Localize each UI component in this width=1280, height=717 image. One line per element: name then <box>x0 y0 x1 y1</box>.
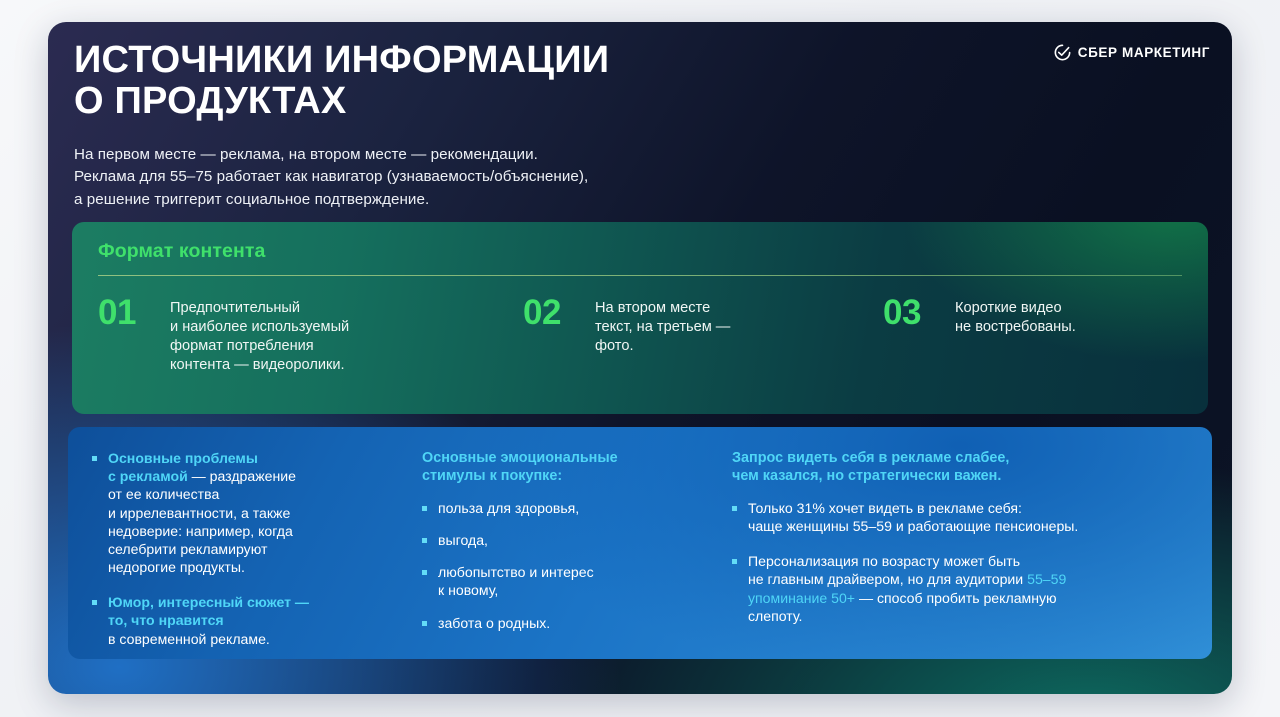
column-heading: Запрос видеть себя в рекламе слабее, чем… <box>732 449 1170 486</box>
list-item: Персонализация по возрасту может быть не… <box>732 552 1170 625</box>
list-item-text: польза для здоровья, <box>438 499 579 517</box>
list-item: Только 31% хочет видеть в рекламе себя: … <box>732 499 1170 535</box>
list-item: любопытство и интерес к новому, <box>422 563 714 599</box>
list-item: Юмор, интересный сюжет — то, что нравитс… <box>92 593 404 648</box>
column-heading: Основные эмоциональные стимулы к покупке… <box>422 449 714 486</box>
slide-subtitle: На первом месте — реклама, на втором мес… <box>74 144 588 211</box>
bullet-square-icon <box>422 570 427 575</box>
brand-label: СБЕР МАРКЕТИНГ <box>1078 45 1210 60</box>
body-text: — раздражение от ее количества и иррелев… <box>108 468 296 575</box>
highlight-text: Юмор, интересный сюжет — то, что нравитс… <box>108 594 309 628</box>
content-format-items: 01 Предпочтительный и наиболее используе… <box>98 296 1182 375</box>
insights-column-emotional-drivers: Основные эмоциональные стимулы к покупке… <box>422 449 732 659</box>
bullet-square-icon <box>92 600 97 605</box>
item-text: Короткие видео не востребованы. <box>955 296 1076 337</box>
body-text-pre: Персонализация по возрасту может быть не… <box>748 553 1027 587</box>
content-format-item: 01 Предпочтительный и наиболее используе… <box>98 296 523 375</box>
list-item-text: любопытство и интерес к новому, <box>438 563 594 599</box>
list-item-text: выгода, <box>438 531 488 549</box>
list-item: забота о родных. <box>422 614 714 632</box>
brand-logo: СБЕР МАРКЕТИНГ <box>1054 44 1210 61</box>
list-item-text: Персонализация по возрасту может быть не… <box>748 552 1066 625</box>
list-item: Основные проблемы с рекламой — раздражен… <box>92 449 404 576</box>
list-item-text: забота о родных. <box>438 614 550 632</box>
insights-column-self-representation: Запрос видеть себя в рекламе слабее, чем… <box>732 449 1188 659</box>
content-format-item: 03 Короткие видео не востребованы. <box>883 296 1182 375</box>
sber-check-circle-icon <box>1054 44 1071 61</box>
list-item-text: Только 31% хочет видеть в рекламе себя: … <box>748 499 1078 535</box>
list-item: выгода, <box>422 531 714 549</box>
slide-header: ИСТОЧНИКИ ИНФОРМАЦИИ О ПРОДУКТАХ СБЕР МА… <box>48 22 1232 227</box>
list-item: польза для здоровья, <box>422 499 714 517</box>
insights-panel: Основные проблемы с рекламой — раздражен… <box>68 427 1212 659</box>
content-format-panel: Формат контента 01 Предпочтительный и на… <box>72 222 1208 414</box>
bullet-square-icon <box>732 506 737 511</box>
item-text: Предпочтительный и наиболее используемый… <box>170 296 349 375</box>
panel-divider <box>98 275 1182 276</box>
bullet-square-icon <box>422 621 427 626</box>
page-title: ИСТОЧНИКИ ИНФОРМАЦИИ О ПРОДУКТАХ <box>74 40 609 123</box>
bullet-square-icon <box>422 506 427 511</box>
item-number: 03 <box>883 296 941 330</box>
insights-column-problems: Основные проблемы с рекламой — раздражен… <box>92 449 422 659</box>
bullet-square-icon <box>422 538 427 543</box>
list-item-text: Юмор, интересный сюжет — то, что нравитс… <box>108 593 309 648</box>
item-text: На втором месте текст, на третьем — фото… <box>595 296 730 356</box>
item-number: 01 <box>98 296 156 330</box>
content-format-item: 02 На втором месте текст, на третьем — ф… <box>523 296 883 375</box>
content-format-title: Формат контента <box>98 240 1182 263</box>
presentation-slide: ИСТОЧНИКИ ИНФОРМАЦИИ О ПРОДУКТАХ СБЕР МА… <box>48 22 1232 694</box>
list-item-text: Основные проблемы с рекламой — раздражен… <box>108 449 296 576</box>
bullet-square-icon <box>732 559 737 564</box>
item-number: 02 <box>523 296 581 330</box>
body-text: в современной рекламе. <box>108 631 270 647</box>
bullet-square-icon <box>92 456 97 461</box>
